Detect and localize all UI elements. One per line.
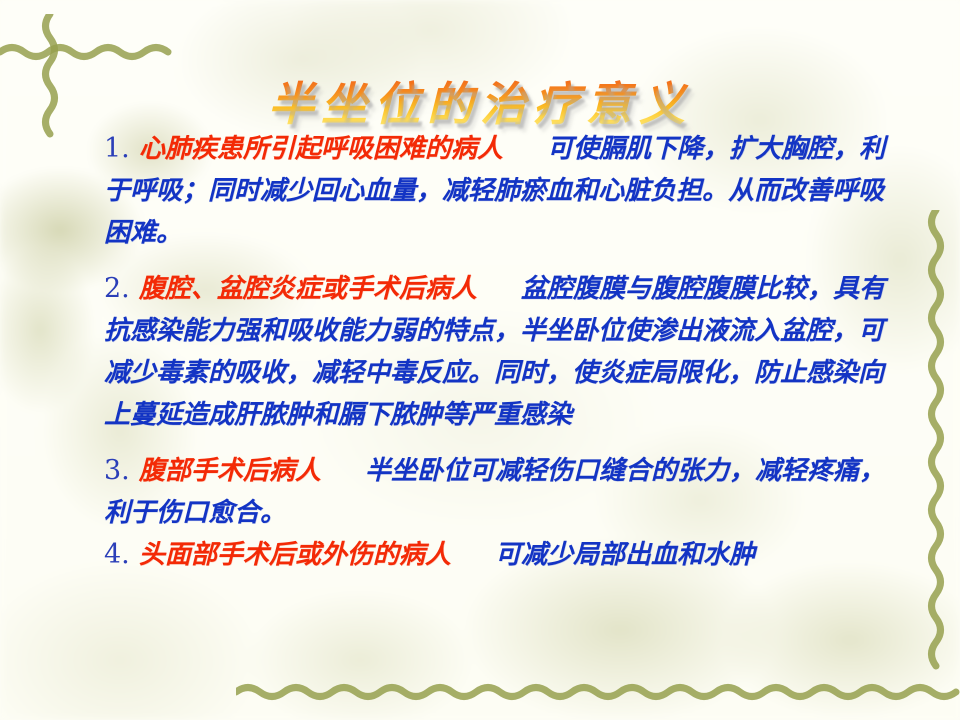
- list-item-lead: 腹部手术后病人: [139, 456, 321, 486]
- slide-canvas: 半坐位的治疗意义 1. 心肺疾患所引起呼吸困难的病人 可使膈肌下降，扩大胸腔，利…: [0, 0, 960, 720]
- list-item-lead: 头面部手术后或外伤的病人: [139, 540, 451, 570]
- list-item-number: 3.: [104, 455, 130, 486]
- list-item-number: 4.: [104, 539, 130, 570]
- border-wave-bottom-horizontal: [236, 672, 960, 712]
- content-body: 1. 心肺疾患所引起呼吸困难的病人 可使膈肌下降，扩大胸腔，利于呼吸；同时减少回…: [104, 128, 904, 576]
- list-item-number: 1.: [104, 133, 130, 164]
- list-item: 4. 头面部手术后或外伤的病人 可减少局部出血和水肿: [104, 534, 904, 576]
- list-item: 3. 腹部手术后病人 半坐卧位可减轻伤口缝合的张力，减轻疼痛，利于伤口愈合。: [104, 450, 904, 534]
- list-item-body: 可减少局部出血和水肿: [495, 540, 755, 570]
- page-title: 半坐位的治疗意义: [0, 79, 960, 130]
- list-item: 2. 腹腔、盆腔炎症或手术后病人 盆腔腹膜与腹腔腹膜比较，具有抗感染能力强和吸收…: [104, 268, 904, 436]
- list-item: 1. 心肺疾患所引起呼吸困难的病人 可使膈肌下降，扩大胸腔，利于呼吸；同时减少回…: [104, 128, 904, 254]
- border-wave-right-vertical: [916, 210, 956, 680]
- list-item-number: 2.: [104, 273, 130, 304]
- list-item-lead: 心肺疾患所引起呼吸困难的病人: [139, 134, 503, 164]
- list-item-lead: 腹腔、盆腔炎症或手术后病人: [139, 274, 477, 304]
